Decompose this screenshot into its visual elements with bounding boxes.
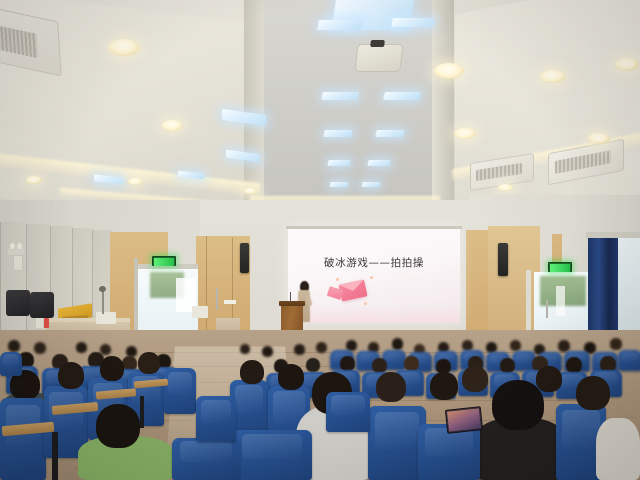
presenter-head	[302, 283, 307, 289]
wall-speaker-right	[498, 243, 508, 276]
audience-head-near-right-4	[376, 372, 406, 402]
stage-table-top	[46, 318, 130, 322]
led-panel-4	[321, 92, 359, 100]
audience-head-mid-10	[306, 358, 320, 372]
downlight-9	[128, 178, 143, 185]
downlight-3	[434, 63, 464, 79]
slide-footer-wash	[288, 305, 460, 323]
ceiling-sensor-box	[355, 44, 404, 72]
attendee-phone[interactable]	[445, 406, 483, 434]
side-cabinet	[192, 306, 208, 318]
audience-head-far-17	[76, 342, 87, 353]
projection-screen: 破冰游戏——拍拍操	[288, 228, 460, 323]
led-panel-11	[361, 182, 380, 187]
wall-speaker-left	[240, 243, 249, 273]
audience-head-near-left-2	[58, 362, 84, 389]
door-handle-right[interactable]	[546, 300, 548, 318]
seat-near-center[interactable]	[172, 438, 240, 480]
downlight-11	[498, 184, 513, 191]
downlight-7	[615, 58, 639, 71]
phone-screen	[447, 408, 481, 431]
mic-stand	[102, 290, 104, 314]
downlight-10	[244, 188, 257, 194]
led-panel-8	[327, 160, 350, 166]
audience-head-mid-8	[566, 357, 582, 373]
stage-chair-2	[30, 292, 54, 318]
audience-head-mid-6	[500, 358, 515, 373]
exit-sign-left	[152, 256, 176, 266]
led-panel-5	[383, 92, 421, 100]
led-panel-2	[317, 20, 363, 30]
audience-head-near-right-2	[278, 364, 304, 390]
led-panel-6	[323, 130, 352, 137]
stage-item-red	[44, 318, 49, 328]
audience-head-far-14	[316, 342, 327, 353]
seat-leg-3	[140, 396, 144, 428]
downlight-5	[588, 133, 610, 144]
seat-leg-1	[52, 432, 58, 480]
seat-edge-left[interactable]	[0, 352, 22, 376]
acoustic-panel-1	[0, 222, 27, 342]
sparkle-1	[336, 278, 339, 281]
seat-near-right-3[interactable]	[232, 430, 312, 480]
downlight-2	[162, 120, 183, 131]
downlight-4	[454, 128, 476, 139]
audience-head-near-right-6	[576, 376, 610, 410]
led-panel-7	[375, 130, 404, 137]
screen-frame-top	[286, 226, 462, 229]
audience-head-far-20	[8, 340, 20, 352]
wood-panel-right-2	[488, 226, 540, 346]
audience-shoulders-near-right-3	[596, 418, 640, 480]
ceiling-coffer-center	[250, 0, 440, 220]
audience-head-near-left-4	[138, 352, 160, 374]
slide-title: 破冰游戏——拍拍操	[288, 255, 460, 270]
curtain-rail	[586, 232, 640, 238]
ceiling-fascia-right	[432, 0, 454, 218]
seat-near-left-6[interactable]	[196, 396, 236, 442]
audience-head-far-16	[240, 344, 250, 354]
audience-head-near-right-1	[240, 360, 264, 384]
audience-head-near-left-3	[100, 356, 124, 381]
door-plate-left	[224, 300, 236, 304]
audience-head-far-8	[510, 340, 521, 351]
wall-control-panel[interactable]	[13, 255, 23, 271]
wall-lamp-bulb-2	[17, 243, 22, 249]
sparkle-2	[370, 276, 373, 279]
stage-chair-1	[6, 290, 30, 316]
podium-microphone	[290, 292, 291, 303]
downlight-1	[108, 39, 140, 56]
audience-head-far-3	[392, 338, 403, 350]
audience-head-near-right-8	[462, 366, 488, 392]
audience-head-near-green	[96, 404, 140, 448]
seat-near-left-5[interactable]	[164, 368, 196, 414]
wood-panel-right	[466, 230, 488, 346]
seat-near-right-7[interactable]	[326, 392, 370, 432]
audience-head-far-10	[558, 340, 570, 352]
seat-near-left-1[interactable]	[0, 398, 46, 480]
ceiling-fascia-left	[244, 0, 264, 212]
downlight-6	[540, 70, 566, 83]
door-handle-left[interactable]	[216, 288, 218, 310]
audience-head-far-12	[610, 338, 622, 350]
wood-seam-1	[206, 236, 207, 344]
led-panel-9	[367, 160, 390, 166]
audience-head-far-15	[262, 346, 273, 357]
audience-head-near-right-7	[430, 372, 458, 400]
stage-equipment-box	[96, 312, 116, 324]
audience-head-far-13	[294, 344, 305, 355]
audience-head-far-21	[34, 342, 46, 354]
seat-far-12[interactable]	[618, 350, 640, 371]
auditorium-photo: 破冰游戏——拍拍操	[0, 0, 640, 480]
audience-head-mid-2	[372, 358, 387, 373]
audience-head-mid-3	[404, 356, 419, 371]
audience-head-near-right-9	[536, 366, 562, 392]
railing-outside-right	[556, 286, 565, 316]
led-panel-10	[329, 182, 348, 187]
audience-head-near-right-5	[492, 380, 544, 430]
audience-head-mid-1	[340, 356, 355, 371]
wall-lamp-bulb-1	[10, 243, 15, 249]
podium-top	[279, 301, 305, 306]
downlight-8	[26, 176, 42, 184]
led-panel-3	[391, 18, 435, 27]
exit-sign-right	[548, 262, 572, 272]
mic-head	[99, 286, 106, 292]
wall-lamp	[8, 248, 24, 255]
